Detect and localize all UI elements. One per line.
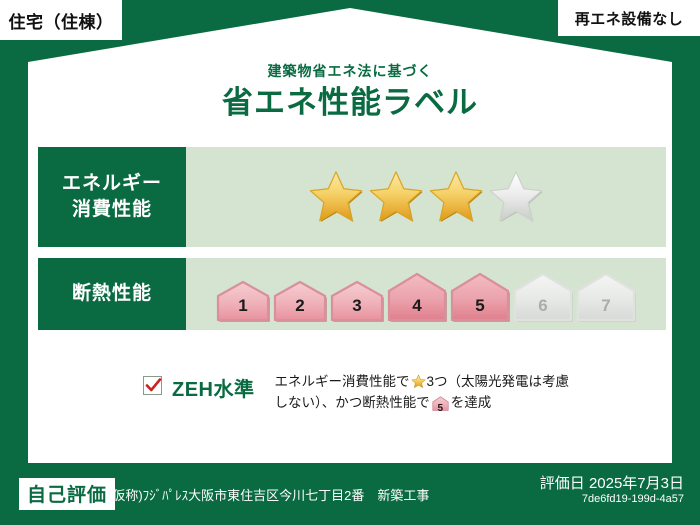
building-type-tag: 住宅（住棟）	[0, 0, 122, 40]
insulation-performance-row: 断熱性能 1234567	[38, 258, 666, 330]
renewable-energy-tag-label: 再エネ設備なし	[575, 8, 684, 29]
label-footer: 自己評価 (仮称)ﾌｼﾞﾊﾟﾚｽ大阪市東住吉区今川七丁目2番 新築工事 評価日 …	[0, 465, 700, 525]
star-icon-filled	[307, 168, 365, 226]
renewable-energy-tag: 再エネ設備なし	[558, 0, 700, 36]
label-main-title: 省エネ性能ラベル	[0, 82, 700, 124]
energy-performance-label: 住宅（住棟） 再エネ設備なし 建築物省エネ法に基づく 省エネ性能ラベル エネルギ…	[0, 0, 700, 525]
project-name-text: (仮称)ﾌｼﾞﾊﾟﾚｽ大阪市東住吉区今川七丁目2番 新築工事	[108, 485, 429, 504]
insulation-performance-row-value: 1234567	[186, 258, 666, 330]
insulation-level-chip: 3	[330, 280, 384, 322]
insulation-level-chip: 5	[450, 272, 510, 322]
insulation-level-chip: 4	[387, 272, 447, 322]
insulation-level-chip: 7	[576, 272, 636, 322]
house-icon-inline-number: 5	[432, 401, 449, 417]
insulation-level-chip: 6	[513, 272, 573, 322]
house-icon-empty	[513, 272, 573, 322]
energy-performance-row-label: エネルギー消費性能	[38, 147, 186, 247]
energy-performance-row: エネルギー消費性能	[38, 147, 666, 247]
energy-performance-row-value	[186, 147, 666, 247]
zeh-desc-post: を達成	[451, 395, 492, 410]
star-rating	[307, 168, 545, 226]
house-icon-inline: 5	[432, 396, 449, 418]
zeh-checkbox[interactable]	[143, 376, 162, 395]
star-icon-inline	[411, 374, 426, 389]
house-icon-filled	[450, 272, 510, 322]
evaluation-date-label: 評価日	[540, 475, 585, 492]
insulation-level-scale: 1234567	[216, 258, 636, 330]
zeh-standard-description: エネルギー消費性能で3つ（太陽光発電は考慮しない）、かつ断熱性能で5を達成	[275, 372, 575, 418]
evaluation-date-value: 2025年7月3日	[589, 475, 684, 492]
assessment-type-badge: 自己評価	[18, 477, 116, 511]
star-icon-filled	[427, 168, 485, 226]
label-title-block: 建築物省エネ法に基づく 省エネ性能ラベル	[0, 62, 700, 124]
house-icon-filled	[216, 280, 270, 322]
evaluation-id: 7de6fd19-199d-4a57	[582, 493, 684, 505]
energy-performance-row-label-text: エネルギー消費性能	[62, 171, 162, 222]
house-icon-filled	[273, 280, 327, 322]
star-icon-empty	[487, 168, 545, 226]
zeh-standard-row: ZEH水準 エネルギー消費性能で3つ（太陽光発電は考慮しない）、かつ断熱性能で5…	[143, 372, 603, 418]
insulation-performance-row-label-text: 断熱性能	[72, 281, 152, 307]
house-icon-empty	[576, 272, 636, 322]
building-type-tag-label: 住宅（住棟）	[9, 8, 114, 33]
house-icon-filled	[387, 272, 447, 322]
zeh-desc-pre: エネルギー消費性能で	[275, 374, 410, 389]
label-subtitle: 建築物省エネ法に基づく	[0, 62, 700, 80]
check-icon	[145, 377, 162, 394]
star-icon-filled	[367, 168, 425, 226]
insulation-level-chip: 1	[216, 280, 270, 322]
insulation-performance-row-label: 断熱性能	[38, 258, 186, 330]
zeh-standard-label: ZEH水準	[172, 373, 255, 402]
evaluation-date: 評価日 2025年7月3日	[540, 472, 684, 493]
insulation-level-chip: 2	[273, 280, 327, 322]
house-icon-filled	[330, 280, 384, 322]
